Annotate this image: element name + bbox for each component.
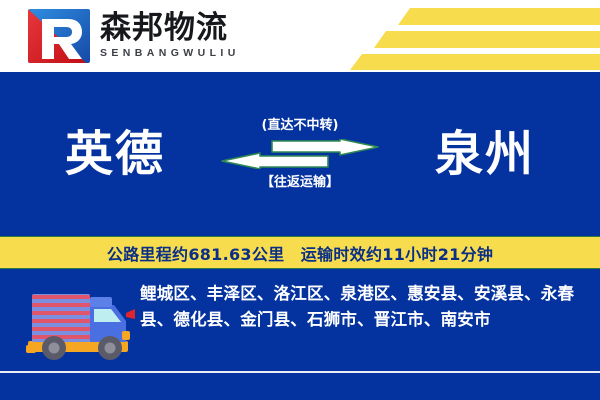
direct-badge: (直达不中转) (262, 119, 339, 132)
brand-logo[interactable]: 森邦物流 SENBANGWULIU (28, 9, 240, 63)
logo-r-mark-icon (28, 9, 90, 63)
origin-city: 英德 (15, 130, 215, 178)
coverage-districts-text: 鲤城区、丰泽区、洛江区、泉港区、惠安县、安溪县、永春县、德化县、金门县、石狮市、… (140, 281, 590, 332)
brand-name-en: SENBANGWULIU (100, 47, 240, 59)
route-middle: (直达不中转) 【往返运输】 (215, 119, 385, 189)
bidirectional-arrow-icon (220, 139, 380, 169)
route-section: 英德 (直达不中转) 【往返运输】 泉州 (0, 72, 600, 236)
delivery-truck-icon (22, 285, 140, 363)
banner-header: 森邦物流 SENBANGWULIU (0, 0, 600, 72)
destination-city: 泉州 (385, 130, 585, 178)
logistics-route-banner: 森邦物流 SENBANGWULIU 英德 (直达不中转) 【往返运输】 泉州 (0, 0, 600, 400)
bottom-divider (0, 371, 600, 373)
brand-text: 森邦物流 SENBANGWULIU (100, 13, 240, 60)
decorative-stripes (340, 0, 600, 72)
coverage-section: 鲤城区、丰泽区、洛江区、泉港区、惠安县、安溪县、永春县、德化县、金门县、石狮市、… (0, 269, 600, 400)
roundtrip-badge: 【往返运输】 (261, 176, 339, 189)
route-row: 英德 (直达不中转) 【往返运输】 泉州 (0, 72, 600, 236)
distance-duration-text: 公路里程约681.63公里 运输时效约11小时21分钟 (107, 241, 493, 265)
brand-name-cn: 森邦物流 (100, 13, 240, 45)
route-info-bar: 公路里程约681.63公里 运输时效约11小时21分钟 (0, 236, 600, 269)
